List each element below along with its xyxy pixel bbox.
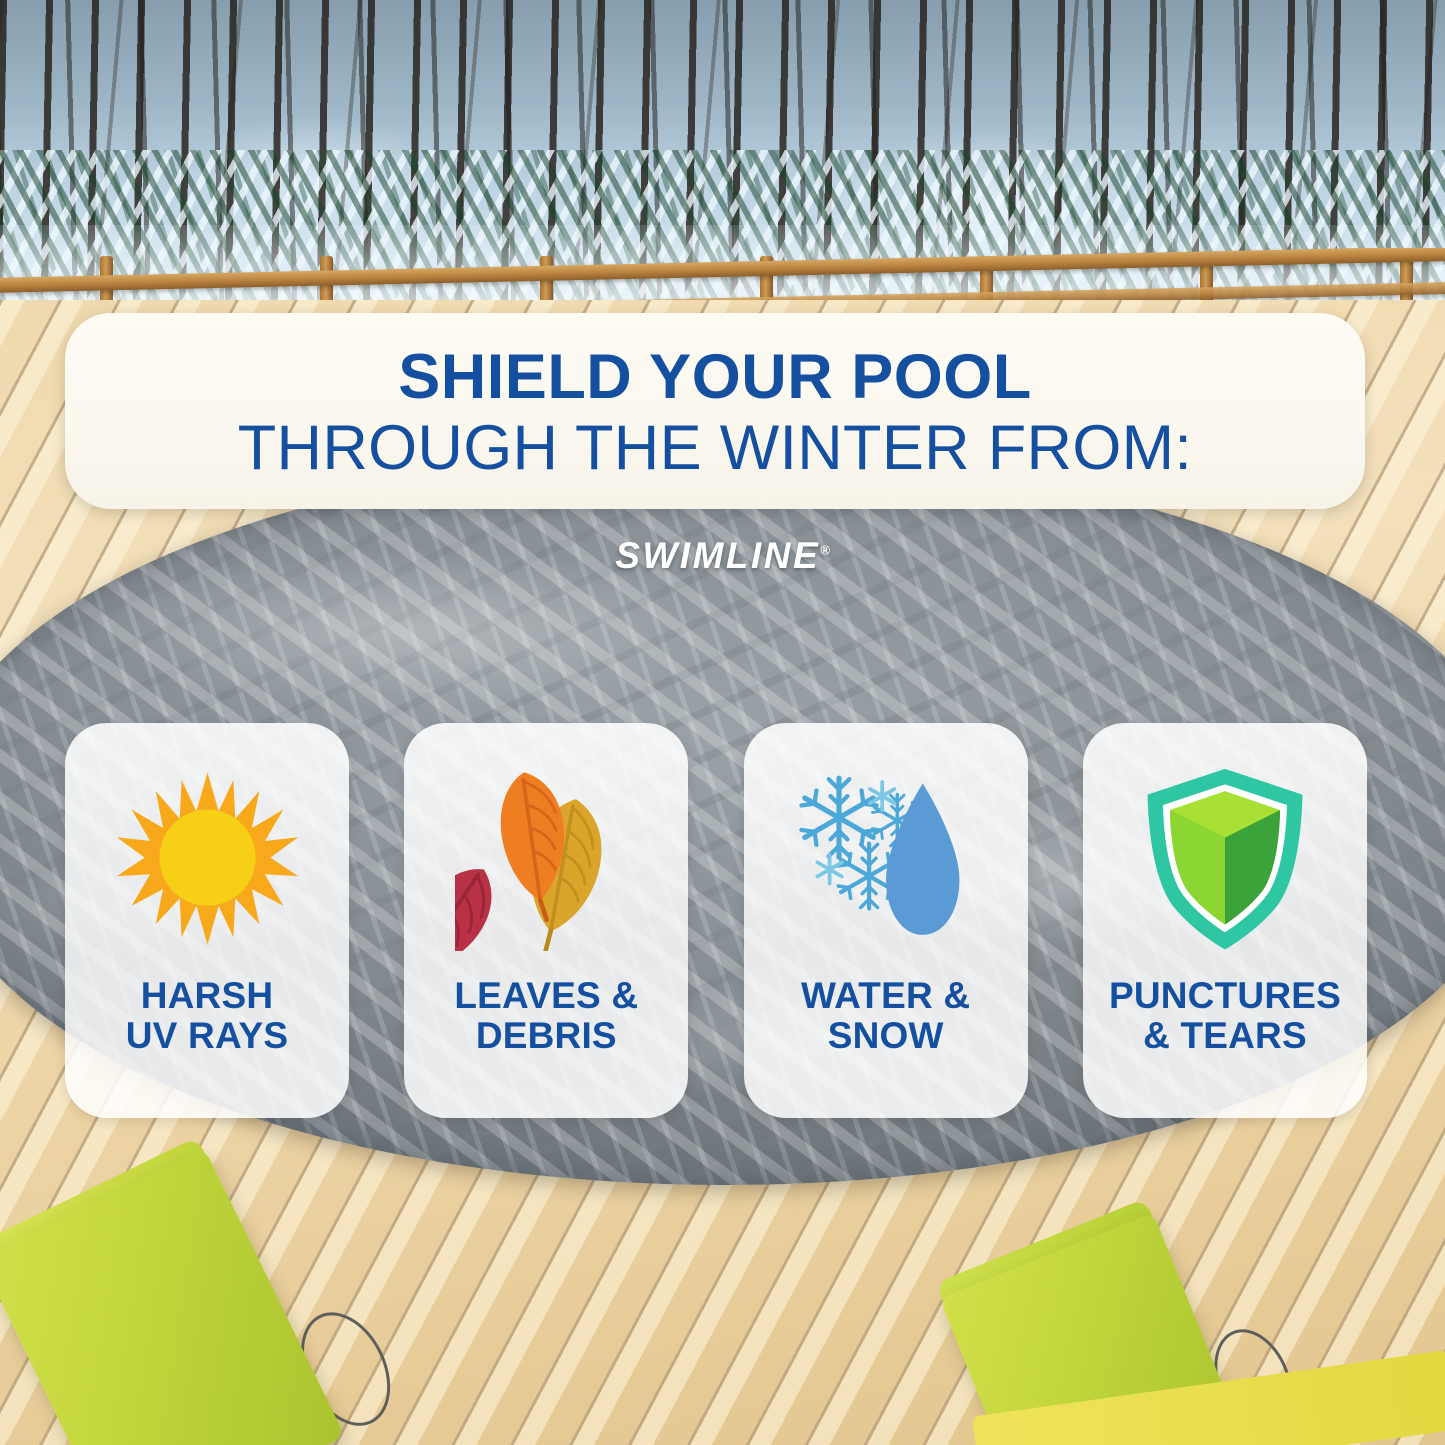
feature-card-punctures-tears[interactable]: PUNCTURES & TEARS: [1083, 723, 1367, 1118]
product-feature-image: SHIELD YOUR POOL THROUGH THE WINTER FROM…: [0, 0, 1445, 1445]
headline-line-1: SHIELD YOUR POOL: [398, 345, 1031, 409]
headline-banner: SHIELD YOUR POOL THROUGH THE WINTER FROM…: [65, 313, 1365, 509]
card-label-line1: PUNCTURES: [1109, 975, 1341, 1016]
feature-card-water-snow[interactable]: WATER & SNOW: [744, 723, 1028, 1118]
card-label-uv-rays: HARSH UV RAYS: [126, 976, 288, 1055]
headline-line-2: THROUGH THE WINTER FROM:: [238, 413, 1192, 484]
card-label-line2: & TEARS: [1143, 1015, 1307, 1056]
leaves-icon: [451, 757, 641, 962]
card-label-punctures-tears: PUNCTURES & TEARS: [1109, 976, 1341, 1055]
card-label-line1: HARSH: [141, 975, 274, 1016]
feature-card-leaves-debris[interactable]: LEAVES & DEBRIS: [404, 723, 688, 1118]
brand-name: SWIMLINE: [615, 535, 820, 576]
sun-icon: [112, 757, 302, 962]
card-label-line1: LEAVES &: [454, 975, 638, 1016]
brand-logo: SWIMLINE®: [0, 535, 1445, 577]
feature-card-row: HARSH UV RAYS: [65, 723, 1367, 1118]
card-label-line2: UV RAYS: [126, 1015, 288, 1056]
shield-icon: [1130, 757, 1320, 962]
card-label-line1: WATER &: [801, 975, 970, 1016]
card-label-leaves-debris: LEAVES & DEBRIS: [454, 976, 638, 1055]
brand-trademark: ®: [820, 543, 830, 558]
card-label-water-snow: WATER & SNOW: [801, 976, 970, 1055]
card-label-line2: DEBRIS: [476, 1015, 617, 1056]
feature-card-uv-rays[interactable]: HARSH UV RAYS: [65, 723, 349, 1118]
card-label-line2: SNOW: [828, 1015, 944, 1056]
snow-water-icon: [791, 757, 981, 962]
